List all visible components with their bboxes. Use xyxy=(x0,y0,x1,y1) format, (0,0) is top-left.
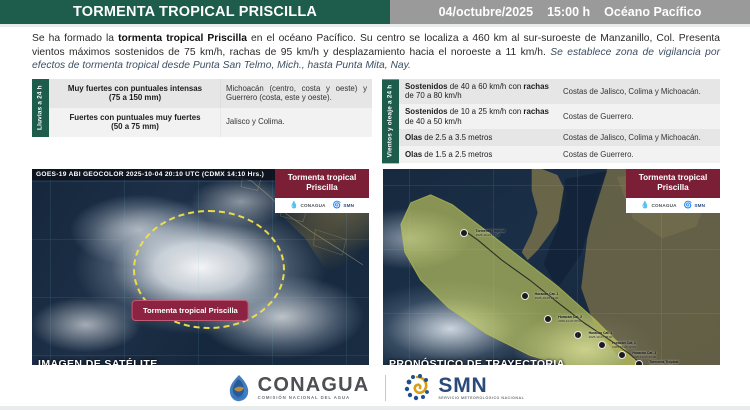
wind-desc-cell: Sostenidos de 40 a 60 km/h con rachas de… xyxy=(399,79,558,104)
trajectory-brand-logos: 💧 CONAGUA 🌀 SMN xyxy=(626,198,720,213)
trajectory-brand-box: Tormenta tropical Priscilla 💧 CONAGUA 🌀 … xyxy=(626,169,720,213)
wind-wave-table: Vientos y oleaje a 24 h Sostenidos de 40… xyxy=(382,79,720,163)
storm-label-tag: Tormenta tropical Priscilla xyxy=(132,300,249,321)
wave-key: Olas xyxy=(405,150,422,159)
smn-logo-small: 🌀 SMN xyxy=(684,202,706,209)
rain-level-cell: Muy fuertes con puntuales intensas (75 a… xyxy=(49,79,220,108)
rain-range: (50 a 75 mm) xyxy=(111,122,159,132)
wind-desc-cell: Sostenidos de 10 a 25 km/h con rachas de… xyxy=(399,104,558,129)
rain-level: Fuertes con puntuales muy fuertes xyxy=(69,113,200,123)
wind-key: Sostenidos xyxy=(405,82,448,91)
satellite-panel: GOES-19 ABI GEOCOLOR 2025-10-04 20:10 UT… xyxy=(32,169,369,374)
page-title: TORMENTA TROPICAL PRISCILLA xyxy=(0,0,390,24)
smn-subtitle: SERVICIO METEOROLÓGICO NACIONAL xyxy=(438,396,524,401)
rain-range: (75 a 150 mm) xyxy=(109,93,161,103)
water-drop-icon: 💧 xyxy=(641,202,650,209)
table-row: Olas de 2.5 a 3.5 metros Costas de Jalis… xyxy=(399,129,720,146)
smn-logo: SMN SERVICIO METEOROLÓGICO NACIONAL xyxy=(402,373,524,403)
wind-areas: Costas de Jalisco, Colima y Michoacán. xyxy=(558,79,720,104)
conagua-eagle-drop-icon xyxy=(226,373,252,403)
table-row: Fuertes con puntuales muy fuertes (50 a … xyxy=(49,108,372,137)
satellite-brand-logos: 💧 CONAGUA 🌀 SMN xyxy=(275,198,369,213)
conagua-logo-small: 💧 CONAGUA xyxy=(290,202,326,209)
table-row: Sostenidos de 40 a 60 km/h con rachas de… xyxy=(399,79,720,104)
satellite-brand-box: Tormenta tropical Priscilla 💧 CONAGUA 🌀 … xyxy=(275,169,369,213)
wind-key: Sostenidos xyxy=(405,107,448,116)
trajectory-brand-title: Tormenta tropical Priscilla xyxy=(626,169,720,198)
wind-desc: de 10 a 25 km/h con xyxy=(448,107,524,116)
rain-table: Lluvias a 24 h Muy fuertes con puntuales… xyxy=(32,79,372,137)
conagua-logo: CONAGUA COMISIÓN NACIONAL DEL AGUA xyxy=(226,373,370,403)
wind-key2: rachas xyxy=(523,82,548,91)
wind-key2: rachas xyxy=(523,107,548,116)
footer-bar: CONAGUA COMISIÓN NACIONAL DEL AGUA SMN S… xyxy=(0,365,750,410)
wave-areas: Costas de Jalisco, Colima y Michoacán. xyxy=(558,129,720,146)
wave-desc-cell: Olas de 2.5 a 3.5 metros xyxy=(399,129,558,146)
summary-paragraph: Se ha formado la tormenta tropical Prisc… xyxy=(0,27,750,75)
rain-table-vertical-label: Lluvias a 24 h xyxy=(32,79,49,137)
header-basin: Océano Pacífico xyxy=(604,5,701,19)
smn-logo-small: 🌀 SMN xyxy=(333,202,355,209)
conagua-name: CONAGUA xyxy=(258,375,370,395)
rain-areas: Jalisco y Colima. xyxy=(220,108,372,137)
image-panels: GOES-19 ABI GEOCOLOR 2025-10-04 20:10 UT… xyxy=(0,163,750,374)
conagua-logo-text: CONAGUA xyxy=(652,203,677,208)
table-row: Olas de 1.5 a 2.5 metros Costas de Guerr… xyxy=(399,146,720,163)
smn-text-block: SMN SERVICIO METEOROLÓGICO NACIONAL xyxy=(438,375,524,401)
header-date: 04/octubre/2025 xyxy=(439,5,534,19)
wave-desc: de 2.5 a 3.5 metros xyxy=(422,133,492,142)
conagua-text-block: CONAGUA COMISIÓN NACIONAL DEL AGUA xyxy=(258,375,370,401)
forecast-tables: Lluvias a 24 h Muy fuertes con puntuales… xyxy=(0,75,750,163)
wave-desc-cell: Olas de 1.5 a 2.5 metros xyxy=(399,146,558,163)
footer-divider xyxy=(385,375,386,401)
wind-desc: de 40 a 60 km/h con xyxy=(448,82,524,91)
smn-spiral-icon xyxy=(402,373,432,403)
weather-bulletin-page: TORMENTA TROPICAL PRISCILLA 04/octubre/2… xyxy=(0,0,750,410)
wind-areas: Costas de Guerrero. xyxy=(558,104,720,129)
conagua-logo-text: CONAGUA xyxy=(301,203,326,208)
footer-divider-rule xyxy=(0,406,750,410)
summary-part-1: Se ha formado la xyxy=(32,33,118,44)
wave-key: Olas xyxy=(405,133,422,142)
table-row: Sostenidos de 10 a 25 km/h con rachas de… xyxy=(399,104,720,129)
wave-areas: Costas de Guerrero. xyxy=(558,146,720,163)
wind-desc2: de 40 a 50 km/h xyxy=(405,117,462,126)
water-drop-icon: 💧 xyxy=(290,202,299,209)
rain-level-cell: Fuertes con puntuales muy fuertes (50 a … xyxy=(49,108,220,137)
rain-areas: Michoacán (centro, costa y oeste) y Guer… xyxy=(220,79,372,108)
header-time: 15:00 h xyxy=(547,5,590,19)
rain-table-rows: Muy fuertes con puntuales intensas (75 a… xyxy=(49,79,372,137)
smn-logo-text: SMN xyxy=(343,203,354,208)
wind-table-vertical-label: Vientos y oleaje a 24 h xyxy=(382,79,399,163)
conagua-logo-small: 💧 CONAGUA xyxy=(641,202,677,209)
spiral-icon: 🌀 xyxy=(684,202,693,209)
header-meta: 04/octubre/2025 15:00 h Océano Pacífico xyxy=(390,0,750,24)
spiral-icon: 🌀 xyxy=(333,202,342,209)
table-row: Muy fuertes con puntuales intensas (75 a… xyxy=(49,79,372,108)
smn-name: SMN xyxy=(438,375,524,396)
wave-desc: de 1.5 a 2.5 metros xyxy=(422,150,492,159)
trajectory-panel: Tormenta Tropical 2025-10-04 14:00 Hurac… xyxy=(383,169,720,374)
wind-desc2: de 70 a 80 km/h xyxy=(405,91,462,100)
wind-table-rows: Sostenidos de 40 a 60 km/h con rachas de… xyxy=(399,79,720,163)
rain-level: Muy fuertes con puntuales intensas xyxy=(68,84,202,94)
storm-name-strong: tormenta tropical Priscilla xyxy=(118,33,247,44)
satellite-brand-title: Tormenta tropical Priscilla xyxy=(275,169,369,198)
header-bar: TORMENTA TROPICAL PRISCILLA 04/octubre/2… xyxy=(0,0,750,24)
smn-logo-text: SMN xyxy=(694,203,705,208)
